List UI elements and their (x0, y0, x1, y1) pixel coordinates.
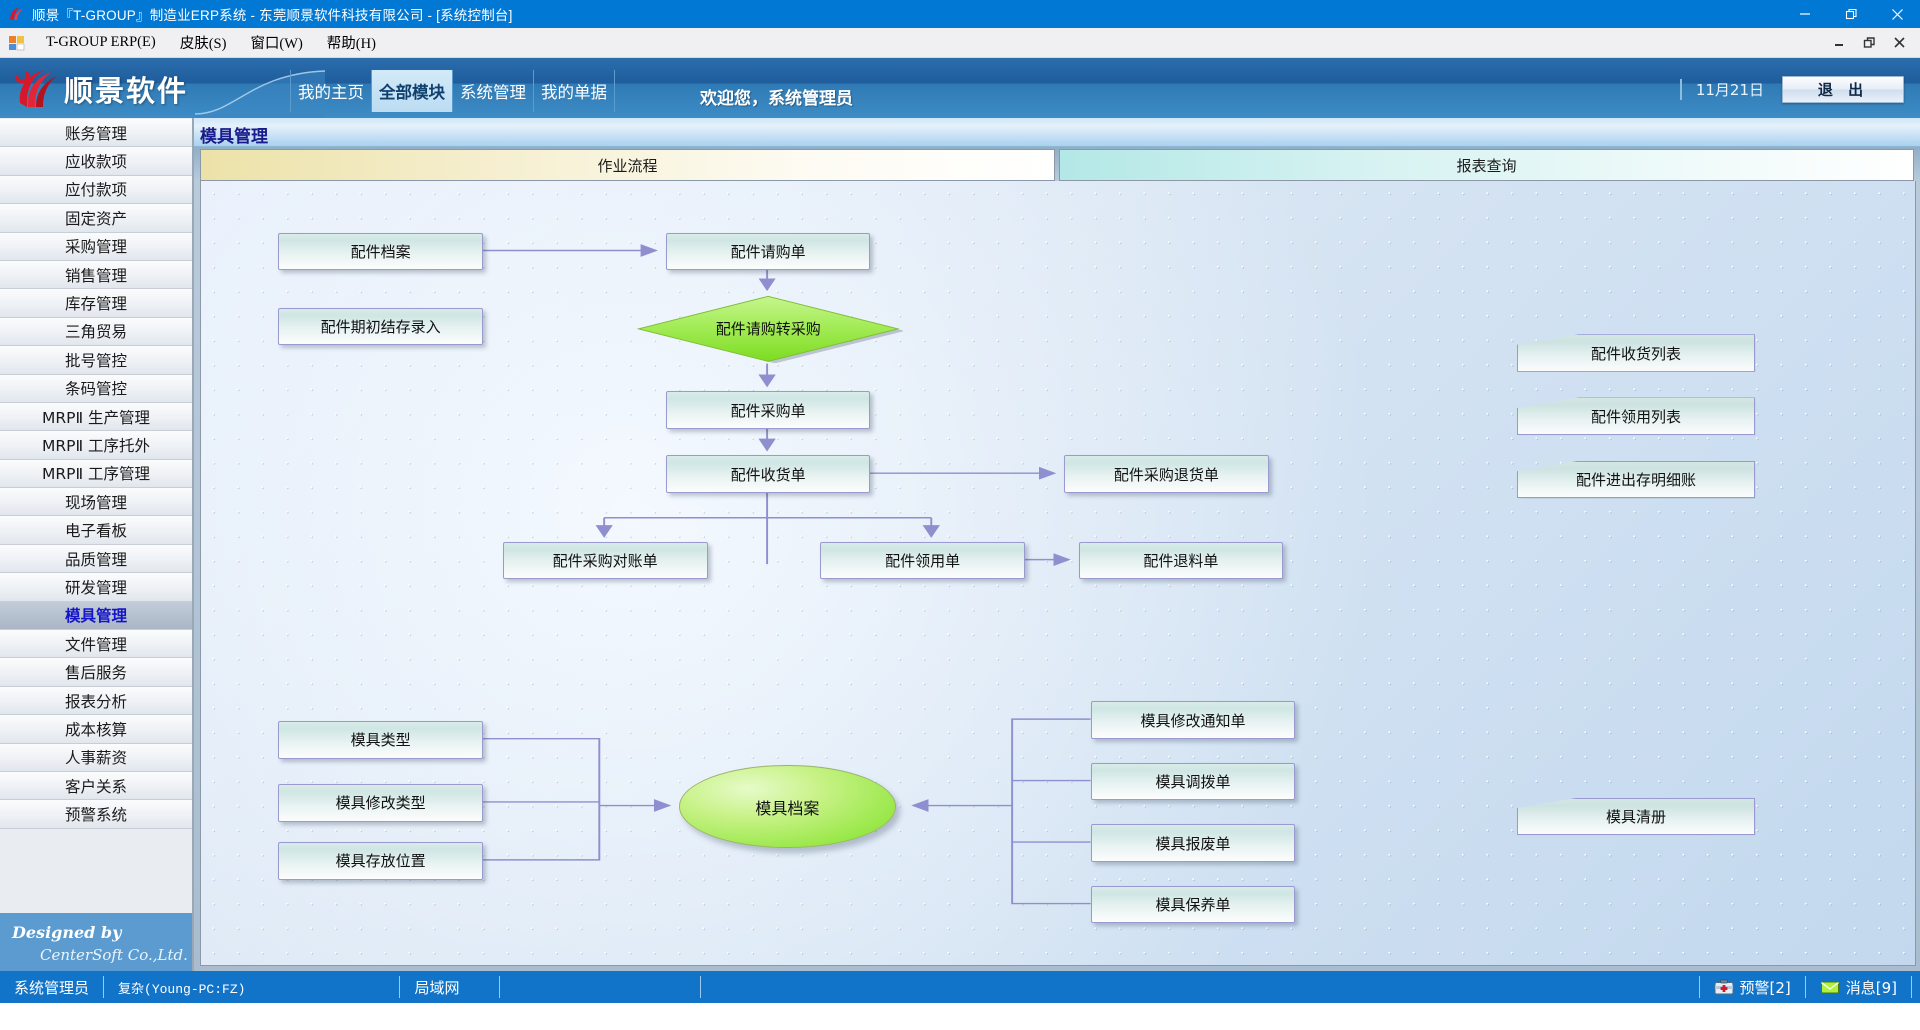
flow-node-n9-label: 配件领用单 (885, 550, 960, 571)
flow-node-n11[interactable]: 模具类型 (278, 721, 483, 759)
sidebar-item-shopfloor[interactable]: 现场管理 (0, 488, 192, 516)
flow-node-n12-label: 模具修改类型 (336, 792, 426, 813)
app-icon (4, 4, 30, 24)
main-nav-tabs: 我的主页 全部模块 系统管理 我的单据 (290, 70, 615, 118)
report-node-r1-label: 配件收货列表 (1591, 343, 1681, 364)
menu-item-window[interactable]: 窗口(W) (238, 29, 314, 56)
status-message-label: 消息[9] (1846, 977, 1897, 998)
flow-node-n18-label: 模具保养单 (1155, 894, 1230, 915)
report-node-r3-label: 配件进出存明细账 (1576, 469, 1696, 490)
flow-node-n6[interactable]: 配件收货单 (666, 455, 871, 493)
logout-button[interactable]: 退 出 (1782, 76, 1904, 103)
status-user: 系统管理员 (0, 971, 103, 1003)
sidebar-item-receivables[interactable]: 应收款项 (0, 147, 192, 175)
flow-node-n17[interactable]: 模具报废单 (1091, 824, 1296, 862)
window-title: 顺景『T-GROUP』制造业ERP系统 - 东莞顺景软件科技有限公司 - [系统… (32, 4, 513, 24)
sidebar-item-barcode-control[interactable]: 条码管控 (0, 375, 192, 403)
nav-tab-my-documents[interactable]: 我的单据 (533, 70, 615, 112)
flow-node-n7-label: 配件采购退货单 (1114, 464, 1219, 485)
sidebar-item-hr-payroll[interactable]: 人事薪资 (0, 744, 192, 772)
designed-by-label: Designed by (12, 923, 121, 942)
status-divider (1911, 976, 1912, 998)
flow-node-n16[interactable]: 模具调拨单 (1091, 763, 1296, 801)
brand-name: 顺景软件 (64, 68, 188, 110)
flow-node-n16-label: 模具调拨单 (1155, 771, 1230, 792)
flow-node-n14[interactable]: 模具档案 (679, 765, 896, 849)
sidebar-item-eboard[interactable]: 电子看板 (0, 516, 192, 544)
mdi-app-icon (8, 35, 26, 51)
sidebar-item-quality[interactable]: 品质管理 (0, 545, 192, 573)
sidebar-item-purchasing[interactable]: 采购管理 (0, 233, 192, 261)
module-sidebar: 账务管理 应收款项 应付款项 固定资产 采购管理 销售管理 库存管理 三角贸易 … (0, 118, 194, 971)
flow-node-n10[interactable]: 配件退料单 (1079, 542, 1284, 580)
status-network: 局域网 (400, 971, 473, 1003)
mdi-window-controls (1824, 28, 1914, 57)
flowchart-canvas: 配件档案配件请购单配件期初结存录入配件请购转采购配件采购单配件收货单配件采购退货… (200, 181, 1916, 966)
main-body: 账务管理 应收款项 应付款项 固定资产 采购管理 销售管理 库存管理 三角贸易 … (0, 118, 1920, 971)
sidebar-item-triangle-trade[interactable]: 三角贸易 (0, 318, 192, 346)
nav-tab-system-admin[interactable]: 系统管理 (452, 70, 533, 112)
status-bar: 系统管理员 复杂(Young-PC:FZ) 局域网 预警[2] (0, 971, 1920, 1003)
mdi-close-button[interactable] (1884, 31, 1914, 55)
flow-node-n11-label: 模具类型 (351, 729, 411, 750)
report-node-r2-label: 配件领用列表 (1591, 406, 1681, 427)
status-alert-label: 预警[2] (1740, 977, 1791, 998)
sidebar-item-accounting[interactable]: 账务管理 (0, 119, 192, 147)
flow-node-n18[interactable]: 模具保养单 (1091, 886, 1296, 924)
flow-node-n4-label: 配件请购转采购 (716, 318, 821, 339)
flow-node-n7[interactable]: 配件采购退货单 (1064, 455, 1269, 493)
status-message-button[interactable]: 消息[9] (1806, 971, 1911, 1003)
sidebar-item-after-sales[interactable]: 售后服务 (0, 658, 192, 686)
flow-node-n10-label: 配件退料单 (1143, 550, 1218, 571)
sidebar-item-cost-accounting[interactable]: 成本核算 (0, 715, 192, 743)
flow-node-n2-label: 配件请购单 (731, 241, 806, 262)
sidebar-item-sales[interactable]: 销售管理 (0, 261, 192, 289)
company-name-label: CenterSoft Co.,Ltd. (40, 946, 188, 964)
report-node-r4-label: 模具清册 (1606, 806, 1666, 827)
sidebar-item-mold-management[interactable]: 模具管理 (0, 602, 192, 630)
sidebar-item-fixed-assets[interactable]: 固定资产 (0, 204, 192, 232)
status-database: 复杂(Young-PC:FZ) (104, 971, 259, 1003)
flow-node-n6-label: 配件收货单 (731, 464, 806, 485)
flow-node-n5[interactable]: 配件采购单 (666, 391, 871, 429)
page-title: 模具管理 (200, 122, 268, 147)
flow-node-n5-label: 配件采购单 (731, 400, 806, 421)
first-aid-kit-icon (1714, 979, 1734, 995)
menu-item-erp[interactable]: T-GROUP ERP(E) (34, 31, 168, 54)
flow-node-n1[interactable]: 配件档案 (278, 233, 483, 271)
header-right-group: 11月21日 退 出 (1680, 76, 1904, 103)
flow-node-n4[interactable]: 配件请购转采购 (633, 295, 903, 363)
flow-node-n12[interactable]: 模具修改类型 (278, 784, 483, 822)
menu-item-help[interactable]: 帮助(H) (315, 29, 388, 56)
panel-header-workflow[interactable]: 作业流程 (200, 149, 1055, 181)
brand-swoosh-icon (14, 67, 60, 109)
status-alert-button[interactable]: 预警[2] (1700, 971, 1805, 1003)
status-divider (499, 976, 500, 998)
report-node-r1[interactable]: 配件收货列表 (1517, 334, 1756, 372)
sidebar-item-crm[interactable]: 客户关系 (0, 772, 192, 800)
brand-logo-area: 顺景软件 (0, 58, 290, 118)
mdi-minimize-button[interactable] (1824, 31, 1854, 55)
menu-bar: T-GROUP ERP(E) 皮肤(S) 窗口(W) 帮助(H) (0, 28, 1920, 58)
window-close-button[interactable] (1874, 0, 1920, 28)
app-header: 顺景软件 我的主页 全部模块 系统管理 我的单据 欢迎您，系统管理员 11月21… (0, 58, 1920, 118)
sidebar-footer: Designed by CenterSoft Co.,Ltd. (0, 913, 192, 971)
flow-node-n8-label: 配件采购对账单 (553, 550, 658, 571)
menu-item-skin[interactable]: 皮肤(S) (168, 29, 239, 56)
envelope-icon (1820, 979, 1840, 995)
flow-node-n8[interactable]: 配件采购对账单 (503, 542, 708, 580)
nav-tab-home[interactable]: 我的主页 (290, 70, 371, 112)
panel-header-reports[interactable]: 报表查询 (1059, 149, 1914, 181)
sidebar-item-report-analysis[interactable]: 报表分析 (0, 687, 192, 715)
header-date: 11月21日 (1680, 79, 1764, 100)
mdi-restore-button[interactable] (1854, 31, 1884, 55)
flow-node-n13[interactable]: 模具存放位置 (278, 842, 483, 880)
panel-header-row: 作业流程 报表查询 (194, 147, 1920, 181)
flow-node-n15-label: 模具修改通知单 (1140, 710, 1245, 731)
window-maximize-button[interactable] (1828, 0, 1874, 28)
sidebar-item-rnd[interactable]: 研发管理 (0, 573, 192, 601)
flow-node-n3-label: 配件期初结存录入 (321, 316, 441, 337)
window-minimize-button[interactable] (1782, 0, 1828, 28)
page-title-bar: 模具管理 (194, 118, 1920, 147)
canvas-wrapper: 配件档案配件请购单配件期初结存录入配件请购转采购配件采购单配件收货单配件采购退货… (194, 181, 1920, 971)
flow-node-n17-label: 模具报废单 (1155, 833, 1230, 854)
flow-node-n13-label: 模具存放位置 (336, 850, 426, 871)
flow-node-n2[interactable]: 配件请购单 (666, 233, 871, 271)
status-divider (700, 976, 701, 998)
flow-node-n3[interactable]: 配件期初结存录入 (278, 308, 483, 346)
sidebar-item-mrp-process[interactable]: MRPⅡ 工序管理 (0, 460, 192, 488)
flow-node-n1-label: 配件档案 (351, 241, 411, 262)
status-right-group: 预警[2] 消息[9] (1699, 971, 1913, 1003)
welcome-message: 欢迎您，系统管理员 (700, 84, 853, 109)
sidebar-item-alert-system[interactable]: 预警系统 (0, 800, 192, 828)
sidebar-item-mrp-outsourcing[interactable]: MRPⅡ 工序托外 (0, 431, 192, 459)
sidebar-item-mrp-production[interactable]: MRPⅡ 生产管理 (0, 403, 192, 431)
main-content: 模具管理 作业流程 报表查询 (194, 118, 1920, 971)
sidebar-item-list: 账务管理 应收款项 应付款项 固定资产 采购管理 销售管理 库存管理 三角贸易 … (0, 118, 192, 913)
sidebar-item-inventory[interactable]: 库存管理 (0, 289, 192, 317)
window-titlebar: 顺景『T-GROUP』制造业ERP系统 - 东莞顺景软件科技有限公司 - [系统… (0, 0, 1920, 28)
sidebar-item-batch-control[interactable]: 批号管控 (0, 346, 192, 374)
flow-node-n15[interactable]: 模具修改通知单 (1091, 701, 1296, 739)
flow-node-n14-label: 模具档案 (755, 795, 819, 819)
flow-node-n9[interactable]: 配件领用单 (820, 542, 1025, 580)
report-node-r4[interactable]: 模具清册 (1517, 798, 1756, 836)
sidebar-item-payables[interactable]: 应付款项 (0, 176, 192, 204)
sidebar-item-document[interactable]: 文件管理 (0, 630, 192, 658)
report-node-r3[interactable]: 配件进出存明细账 (1517, 461, 1756, 499)
nav-tab-all-modules[interactable]: 全部模块 (371, 70, 452, 112)
report-node-r2[interactable]: 配件领用列表 (1517, 397, 1756, 435)
window-controls (1782, 0, 1920, 28)
